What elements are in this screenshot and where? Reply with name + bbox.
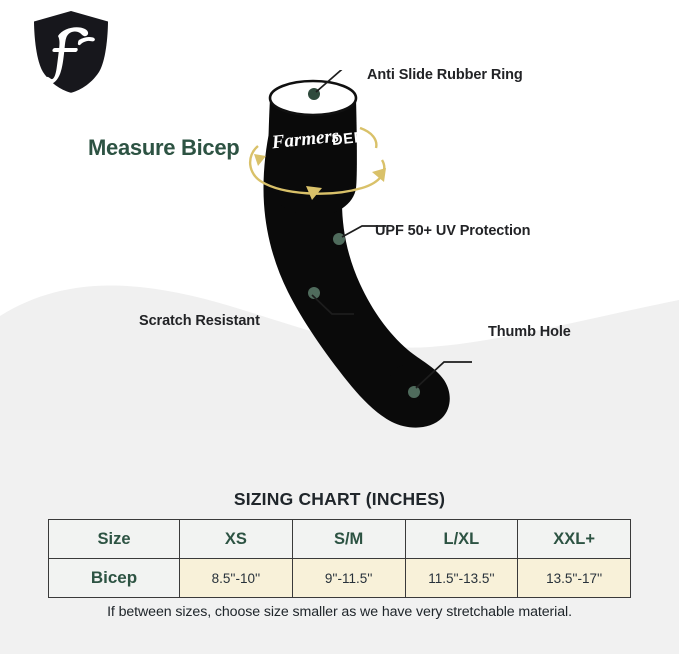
callout-label-thumb-hole: Thumb Hole <box>488 325 571 340</box>
table-header-row: Size XS S/M L/XL XXL+ <box>49 520 631 559</box>
column-header-xs: XS <box>180 520 293 559</box>
shield-logo-icon <box>27 6 115 98</box>
callout-label-upf-uv-protection: UPF 50+ UV Protection <box>375 224 530 239</box>
column-header-xxl: XXL+ <box>518 520 631 559</box>
dot-thumb-hole <box>408 386 420 398</box>
column-header-size: Size <box>49 520 180 559</box>
dot-upf-uv-protection <box>333 233 345 245</box>
arm-sleeve-illustration: Farmers DEFENSE <box>236 70 506 440</box>
thumb-hole-shape <box>389 364 432 404</box>
callout-label-scratch-resistant: Scratch Resistant <box>139 314 260 329</box>
cell-bicep-lxl: 11.5''-13.5'' <box>405 559 518 598</box>
measure-bicep-label: Measure Bicep <box>88 137 239 159</box>
row-header-bicep: Bicep <box>49 559 180 598</box>
column-header-lxl: L/XL <box>405 520 518 559</box>
callout-label-anti-slide-rubber-ring: Anti Slide Rubber Ring <box>367 68 523 83</box>
cell-bicep-xxl: 13.5''-17'' <box>518 559 631 598</box>
column-header-sm: S/M <box>292 520 405 559</box>
sizing-chart-table: Size XS S/M L/XL XXL+ Bicep 8.5''-10'' 9… <box>48 519 631 598</box>
sizing-note: If between sizes, choose size smaller as… <box>0 604 679 620</box>
sizing-chart-title: SIZING CHART (INCHES) <box>0 489 679 510</box>
cell-bicep-xs: 8.5''-10'' <box>180 559 293 598</box>
infographic-canvas: Farmers DEFENSE Anti Slide Rubber Ring U… <box>0 0 679 654</box>
table-row: Bicep 8.5''-10'' 9''-11.5'' 11.5''-13.5'… <box>49 559 631 598</box>
cell-bicep-sm: 9''-11.5'' <box>292 559 405 598</box>
